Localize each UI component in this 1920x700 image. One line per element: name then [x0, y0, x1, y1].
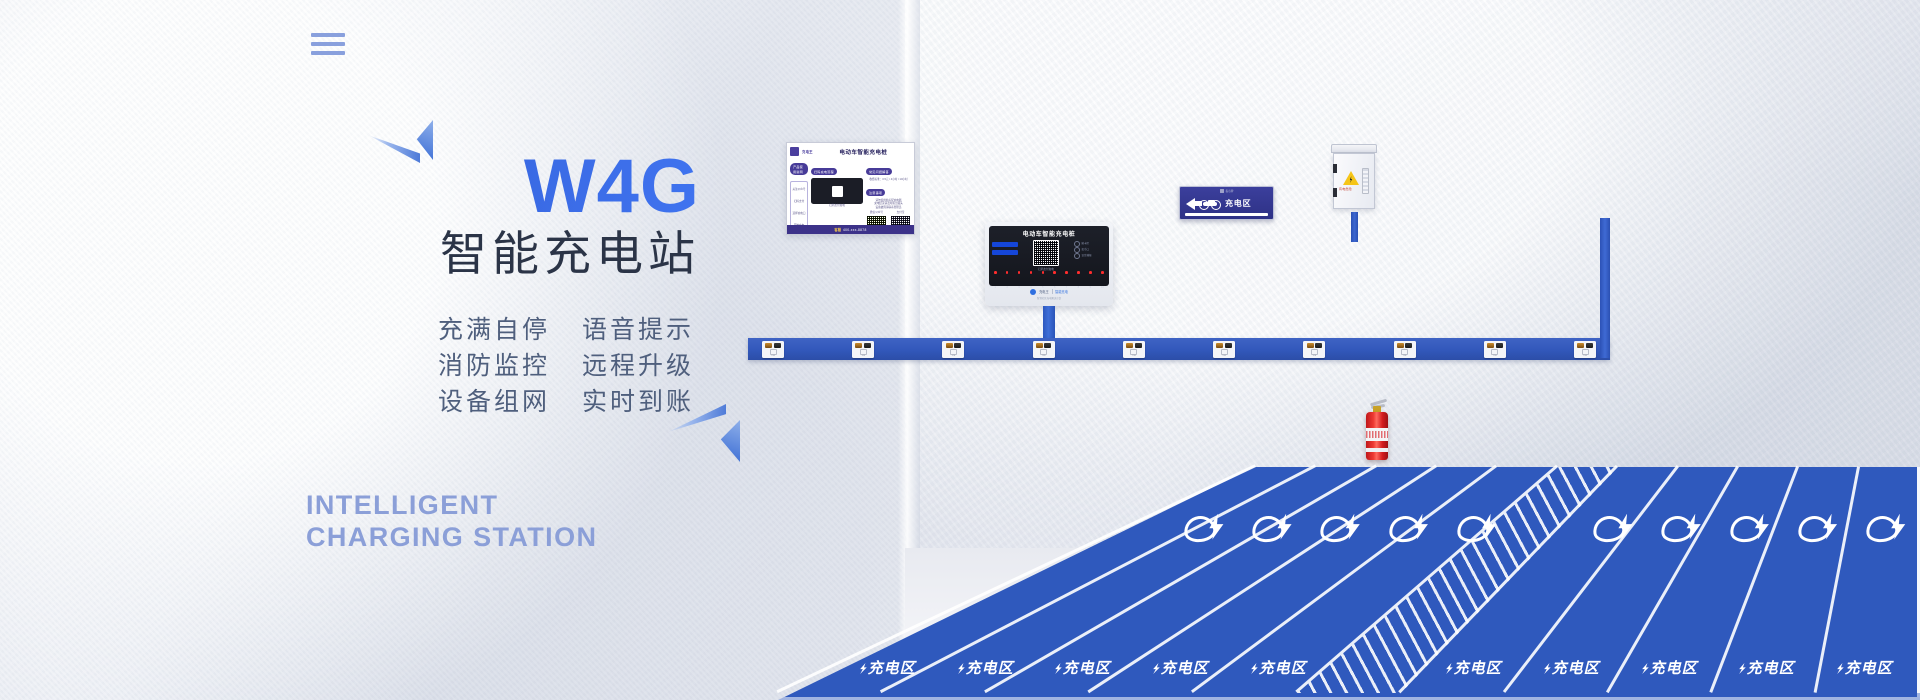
- power-feeder-conduit: [1600, 218, 1610, 358]
- wall-socket[interactable]: 10A: [1484, 341, 1506, 358]
- charging-port[interactable]: 4: [1030, 271, 1033, 293]
- lot-outer-border: [556, 460, 1920, 700]
- feature-item: 语音提示: [582, 312, 700, 348]
- poster-logo-text: 充电王: [802, 149, 813, 154]
- feature-row: 消防监控 远程升级: [300, 348, 700, 384]
- charging-port[interactable]: 9: [1089, 271, 1092, 293]
- wall-socket[interactable]: 10A: [1123, 341, 1145, 358]
- display-bar-2: [992, 250, 1018, 255]
- poster-note: 设备故障请联系管理员: [866, 206, 911, 209]
- english-line-2: CHARGING STATION: [306, 522, 597, 554]
- charging-port[interactable]: 6: [1053, 271, 1056, 293]
- wall-socket[interactable]: 10A: [762, 341, 784, 358]
- socket-label: 10A: [1222, 355, 1226, 357]
- poster-flow-step: 关注公众号: [793, 188, 806, 191]
- charging-station-banner: W4G 智能充电站 充满自停 语音提示 消防监控 远程升级 设备组网 实时到账 …: [0, 0, 1920, 700]
- hamburger-menu-icon[interactable]: [311, 33, 345, 55]
- socket-pin: [770, 349, 777, 355]
- cabinet-hinge: [1333, 188, 1337, 197]
- english-tagline: INTELLIGENT CHARGING STATION: [306, 490, 597, 554]
- socket-pin: [860, 349, 867, 355]
- poster-logo-icon: [790, 147, 799, 156]
- display-bar-1: [992, 242, 1018, 247]
- feature-list: 充满自停 语音提示 消防监控 远程升级 设备组网 实时到账: [300, 312, 700, 421]
- socket-pin: [1582, 349, 1589, 355]
- wall-socket[interactable]: 10A: [1033, 341, 1055, 358]
- direction-sign: 指示牌 充电区: [1179, 186, 1274, 220]
- wall-socket[interactable]: 10A: [1213, 341, 1235, 358]
- menu-bar-3: [311, 51, 345, 55]
- speaker-icon: [1074, 253, 1080, 259]
- menu-bar-2: [311, 42, 345, 46]
- socket-holes: [946, 343, 962, 348]
- socket-pin: [950, 349, 957, 355]
- cabinet-top: [1331, 144, 1377, 153]
- charging-pile-title: 电动车智能充电桩: [992, 229, 1106, 238]
- fire-extinguisher: [1364, 398, 1390, 460]
- charging-pile[interactable]: 电动车智能充电桩 扫码支付充电 刷卡区 投币口 语音播报: [985, 222, 1113, 306]
- poster-chip: 常见问题解答: [866, 168, 892, 175]
- poster-column-left: 产品使用说明 关注公众号 扫码支付 选择充电口 开始充电: [790, 160, 808, 223]
- wall-socket[interactable]: 10A: [1303, 341, 1325, 358]
- socket-holes: [1307, 343, 1323, 348]
- feature-item: 充满自停: [438, 312, 556, 348]
- english-line-1: INTELLIGENT: [306, 490, 597, 522]
- sign-marker-icon: [1220, 189, 1224, 193]
- wall-socket[interactable]: 10A: [852, 341, 874, 358]
- socket-pin: [1221, 349, 1228, 355]
- charging-port[interactable]: 2: [1006, 271, 1009, 293]
- charging-port[interactable]: 1: [994, 271, 997, 293]
- charging-pile-qr-code[interactable]: [1033, 240, 1059, 266]
- poster-price-line: 收费标准：0.5元 / 4小时 / 10小时: [866, 178, 911, 181]
- feature-item: 实时到账: [582, 384, 700, 420]
- cabinet-vent: [1362, 168, 1369, 194]
- brand-title: W4G: [300, 150, 700, 224]
- wall-socket[interactable]: 10A: [1394, 341, 1416, 358]
- page-title: 智能充电站: [300, 226, 700, 281]
- extinguisher-band: [1366, 448, 1388, 452]
- sign-top-strip: 指示牌: [1180, 187, 1273, 194]
- poster-flow-step: 扫码支付: [794, 200, 804, 203]
- charging-port[interactable]: 3: [1018, 271, 1021, 293]
- poster-qr-caption: 支付宝: [890, 211, 911, 214]
- electric-bike-icon: [1199, 198, 1221, 210]
- socket-pin: [1491, 349, 1498, 355]
- socket-label: 10A: [952, 355, 956, 357]
- extinguisher-label: [1366, 428, 1388, 441]
- socket-holes: [855, 343, 871, 348]
- charging-port[interactable]: 10: [1101, 271, 1104, 293]
- poster-header: 充电王 电动车智能充电桩: [790, 146, 911, 157]
- socket-label: 10A: [1042, 355, 1046, 357]
- poster-chip: 产品使用说明: [790, 163, 808, 175]
- poster-title: 电动车智能充电桩: [816, 148, 911, 156]
- socket-pin: [1040, 349, 1047, 355]
- charging-port-row: 1 2 3 4 5 6 7 8 9 10: [992, 271, 1106, 293]
- hero-copy: W4G 智能充电站 充满自停 语音提示 消防监控 远程升级 设备组网 实时到账: [300, 150, 700, 421]
- high-voltage-warning-icon: [1343, 171, 1359, 185]
- socket-label: 10A: [861, 355, 865, 357]
- socket-pin: [1130, 349, 1137, 355]
- socket-pin: [1311, 349, 1318, 355]
- socket-holes: [1577, 343, 1593, 348]
- poster-chip: 注意事项: [866, 189, 885, 196]
- socket-holes: [1216, 343, 1232, 348]
- parking-lot: 充电区充电区充电区充电区充电区充电区充电区充电区充电区充电区: [556, 460, 1920, 700]
- charging-pile-qr-caption: 扫码支付充电: [1021, 267, 1071, 271]
- socket-label: 10A: [771, 355, 775, 357]
- cabinet-body: 有电危险: [1333, 153, 1375, 209]
- cabinet-hinge: [1333, 164, 1337, 173]
- charging-port[interactable]: 8: [1077, 271, 1080, 293]
- wall-poster: 充电王 电动车智能充电桩 产品使用说明 关注公众号 扫码支付 选择充电口 开始充…: [786, 142, 915, 235]
- extinguisher-body: [1366, 412, 1388, 460]
- left-arrow-icon: [1186, 198, 1195, 210]
- charging-port[interactable]: 7: [1065, 271, 1068, 293]
- socket-holes: [1036, 343, 1052, 348]
- side-label: 投币口: [1082, 248, 1090, 252]
- charging-pile-displays: [992, 240, 1018, 255]
- charging-pile-screen: 电动车智能充电桩 扫码支付充电 刷卡区 投币口 语音播报: [989, 226, 1109, 286]
- socket-label: 10A: [1132, 355, 1136, 357]
- socket-holes: [1397, 343, 1413, 348]
- charging-pile-side-labels: 刷卡区 投币口 语音播报: [1074, 240, 1106, 259]
- poster-device-caption: 扫码支付充电: [811, 204, 863, 207]
- poster-column-center: 扫码充电流程 扫码支付充电: [811, 160, 863, 223]
- cabinet-pole: [1351, 212, 1358, 242]
- sign-top-label: 指示牌: [1226, 189, 1234, 193]
- socket-label: 10A: [1403, 355, 1407, 357]
- poster-footer-label: 客服: [834, 227, 841, 232]
- parking-bays: 充电区充电区充电区充电区充电区充电区充电区充电区充电区充电区: [556, 460, 1920, 700]
- charging-pile-middle: 扫码支付充电 刷卡区 投币口 语音播报: [992, 240, 1106, 270]
- socket-holes: [765, 343, 781, 348]
- sign-text: 充电区: [1225, 198, 1251, 209]
- poster-body: 产品使用说明 关注公众号 扫码支付 选择充电口 开始充电 扫码充电流程 扫码支付…: [790, 160, 911, 223]
- socket-holes: [1487, 343, 1503, 348]
- poster-qr-caption: 微信公众号: [866, 211, 887, 214]
- poster-footer: 客服 400-xxx-8878: [787, 225, 914, 234]
- socket-label: 10A: [1583, 355, 1587, 357]
- poster-column-right: 常见问题解答 收费标准：0.5元 / 4小时 / 10小时 注意事项 请勿使用非…: [866, 160, 911, 223]
- wall-socket[interactable]: 10A: [942, 341, 964, 358]
- wall-socket-rail: 10A10A10A10A10A10A10A10A10A10A: [748, 338, 1610, 360]
- sign-underline: [1185, 213, 1268, 216]
- feature-row: 设备组网 实时到账: [300, 384, 700, 420]
- feature-item: 设备组网: [438, 384, 556, 420]
- poster-chip: 扫码充电流程: [811, 168, 837, 175]
- socket-label: 10A: [1313, 355, 1317, 357]
- charging-port[interactable]: 5: [1042, 271, 1045, 293]
- charging-pile-housing: 电动车智能充电桩 扫码支付充电 刷卡区 投币口 语音播报: [985, 222, 1113, 306]
- cabinet-warning-text: 有电危险: [1339, 187, 1352, 191]
- poster-flow-step: 选择充电口: [793, 212, 806, 215]
- pile-brand-sub: 智慧社区充电解决方案: [1037, 296, 1061, 300]
- wall-socket[interactable]: 10A: [1574, 341, 1596, 358]
- sign-content: 充电区: [1180, 194, 1273, 213]
- side-label: 刷卡区: [1082, 242, 1090, 246]
- menu-bar-1: [311, 33, 345, 37]
- feature-row: 充满自停 语音提示: [300, 312, 700, 348]
- distribution-cabinet: 有电危险: [1331, 144, 1377, 212]
- feature-item: 消防监控: [438, 348, 556, 384]
- poster-device-image: [811, 178, 863, 204]
- side-label: 语音播报: [1082, 254, 1092, 258]
- socket-label: 10A: [1493, 355, 1497, 357]
- poster-footer-phone: 400-xxx-8878: [843, 228, 867, 232]
- socket-pin: [1401, 349, 1408, 355]
- socket-holes: [1126, 343, 1142, 348]
- feature-item: 远程升级: [582, 348, 700, 384]
